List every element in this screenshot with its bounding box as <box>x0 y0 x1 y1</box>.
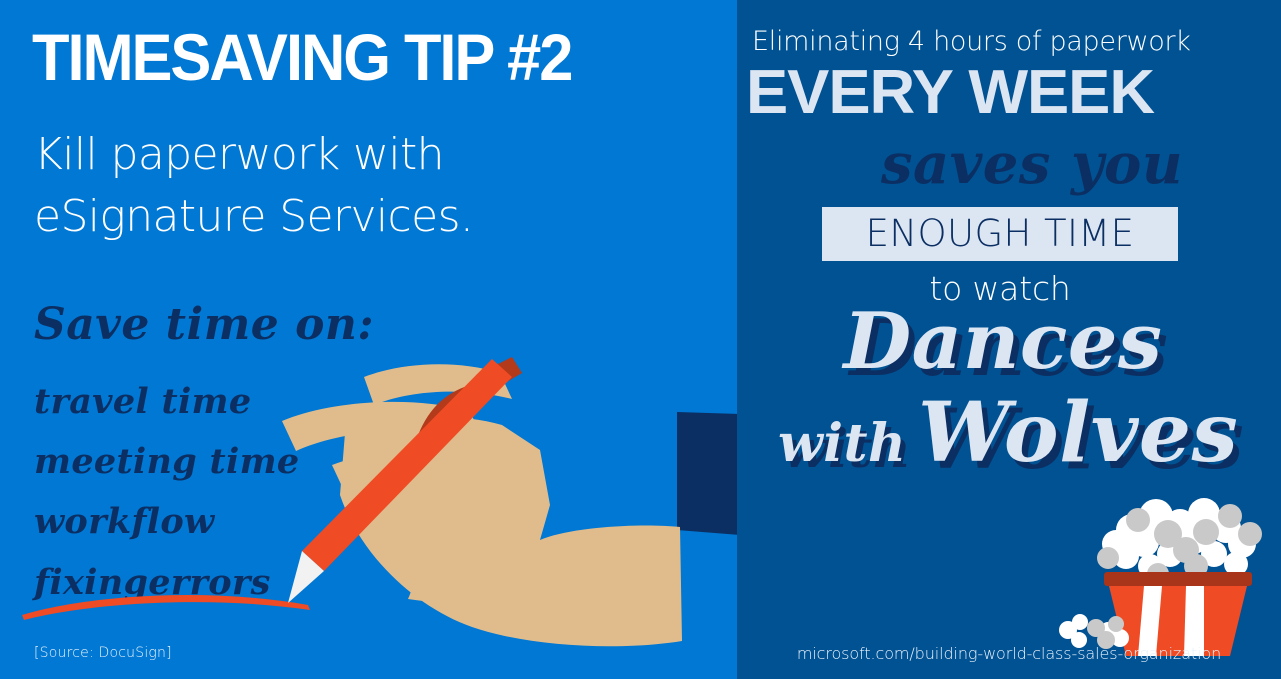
movie-title-with: with <box>778 418 906 470</box>
page-title: TIMESAVING TIP #2 <box>32 24 664 90</box>
movie-title-line-1: Dances <box>778 303 1228 381</box>
popcorn-bucket-icon <box>1046 478 1281 668</box>
subtitle: Kill paperwork with eSignature Services. <box>34 124 634 249</box>
every-week-headline: EVERY WEEK <box>746 62 1281 124</box>
subtitle-line-1: Kill paperwork with <box>34 124 634 186</box>
subtitle-line-2: eSignature Services. <box>34 186 634 248</box>
enough-time-box: ENOUGH TIME <box>822 207 1178 261</box>
movie-title-wolves: Wolves <box>918 392 1238 474</box>
save-time-heading: Save time on: <box>34 303 374 347</box>
hand-holding-pen-icon <box>240 355 740 679</box>
enough-time-label: ENOUGH TIME <box>822 207 1178 261</box>
movie-title-line-2: with Wolves <box>750 392 1270 492</box>
saves-you-script: saves you <box>832 136 1232 192</box>
eliminating-line: Eliminating 4 hours of paperwork <box>752 28 1272 55</box>
source-citation: [Source: DocuSign] <box>34 645 172 661</box>
infographic-poster: TIMESAVING TIP #2 Kill paperwork with eS… <box>0 0 1281 679</box>
site-url: microsoft.com/building-world-class-sales… <box>737 644 1281 663</box>
